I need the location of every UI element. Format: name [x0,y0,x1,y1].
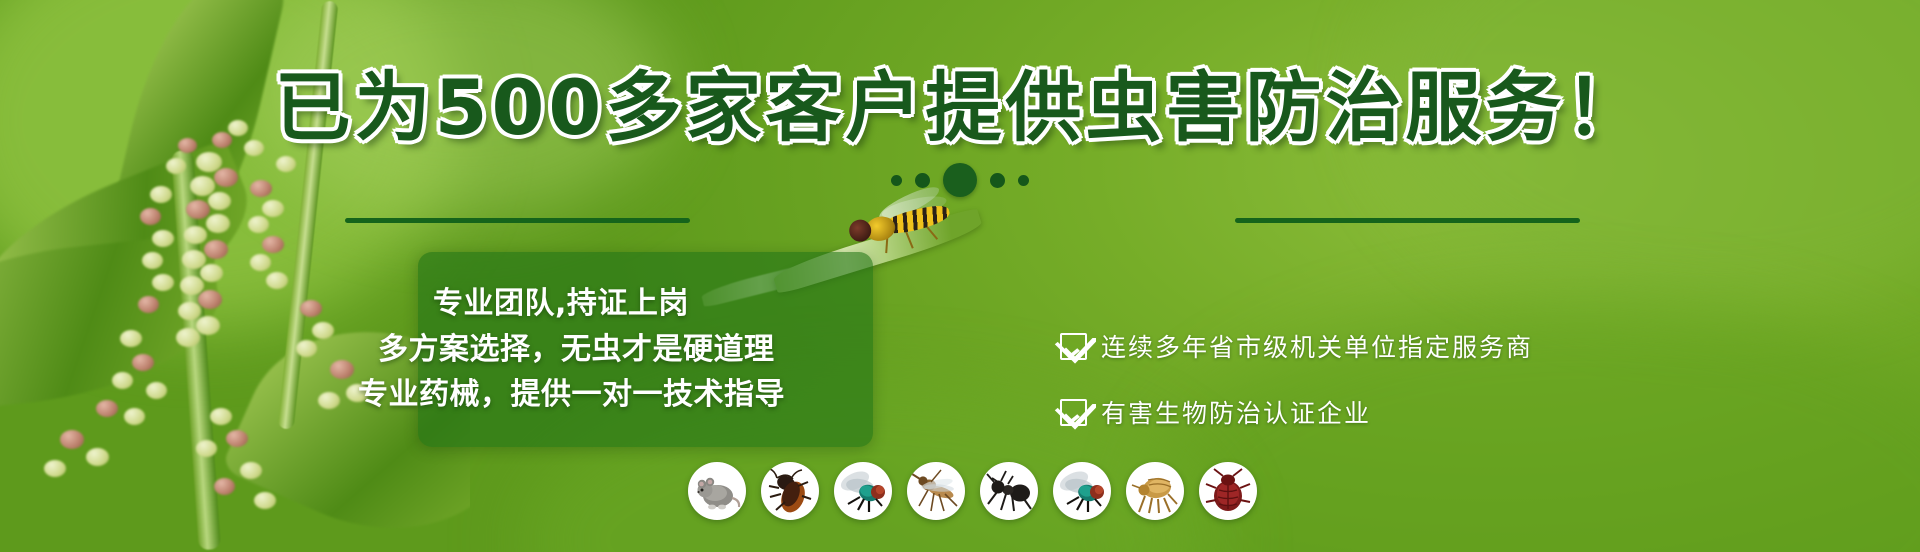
flower-bud-grain [254,492,276,509]
flower-bud-grain [240,462,262,479]
flower-bud-grain [184,226,207,244]
background-foliage-blob [1380,0,1920,310]
flower-bud-grain [124,408,145,425]
credential-text: 有害生物防治认证企业 [1101,394,1371,430]
flower-bud-grain [152,230,174,247]
feature-line: 专业药械，提供一对一技术指导 [358,378,888,412]
decorative-dot-medium-icon [990,173,1005,188]
checkbox-check-icon [1060,399,1087,426]
flower-bud-grain [266,272,288,289]
decorative-dot-small-icon [1018,175,1029,186]
flower-bud-grain [44,460,66,477]
flower-bud-grain [204,240,228,259]
flower-bud-grain [248,216,269,233]
flower-bud-grain [140,208,161,225]
mosquito-icon [907,462,965,520]
ant-icon [980,462,1038,520]
flower-bud-grain [214,478,235,495]
feature-list: 专业团队,持证上岗 多方案选择，无虫才是硬道理 专业药械，提供一对一技术指导 [418,252,888,447]
bedbug-icon [1199,462,1257,520]
flower-bud-grain [198,290,222,309]
flower-bud-grain [226,430,248,447]
flower-bud-grain [112,372,133,389]
cockroach-icon [761,462,819,520]
feature-line: 专业团队,持证上岗 [426,287,888,321]
decorative-dot-small-icon [891,175,902,186]
flower-bud-grain [120,330,142,347]
flower-bud-grain [210,408,232,425]
flower-bud-grain [330,360,354,379]
flower-bud-grain [142,252,163,269]
fly-icon [1053,462,1111,520]
flower-bud-grain [138,296,159,313]
list-item: 连续多年省市级机关单位指定服务商 [1060,328,1600,364]
flower-bud-grain [178,302,201,320]
flower-bud-grain [262,200,284,217]
checkbox-check-icon [1060,333,1087,360]
flower-bud-grain [296,340,317,357]
decorative-dot-large-icon [943,163,977,197]
flower-bud-grain [250,254,271,271]
flower-bud-grain [146,382,167,399]
flower-bud-grain [152,274,174,291]
flower-bud-grain [86,448,109,466]
flower-bud-grain [176,328,200,347]
flower-bud-grain [196,440,217,457]
flower-bud-grain [60,430,84,449]
feature-line: 多方案选择，无虫才是硬道理 [378,333,888,367]
flower-bud-grain [312,322,334,339]
flea-icon [1126,462,1184,520]
flower-bud-grain [300,300,322,317]
divider-right [1235,218,1580,223]
rodent-icon [688,462,746,520]
promo-banner: 已为500多家客户提供虫害防治服务！ 专业团队,持证上岗 多方案选择，无虫才是硬… [0,0,1920,552]
flower-bud-grain [262,236,284,253]
list-item: 有害生物防治认证企业 [1060,394,1600,430]
flower-bud-grain [200,264,223,282]
flower-bud-grain [96,400,118,417]
flower-bud-grain [186,200,210,219]
flower-bud-grain [196,316,220,335]
decorative-dots [0,158,1920,202]
flower-bud-grain [318,392,340,409]
credential-text: 连续多年省市级机关单位指定服务商 [1101,328,1533,364]
decorative-dot-medium-icon [915,173,930,188]
credentials-list: 连续多年省市级机关单位指定服务商 有害生物防治认证企业 [1060,328,1600,430]
flower-bud-grain [206,214,230,233]
pest-icon-strip [688,462,1257,520]
divider-left [345,218,690,223]
page-title: 已为500多家客户提供虫害防治服务！ [0,70,1920,146]
fly-icon [834,462,892,520]
flower-bud-grain [132,354,154,371]
